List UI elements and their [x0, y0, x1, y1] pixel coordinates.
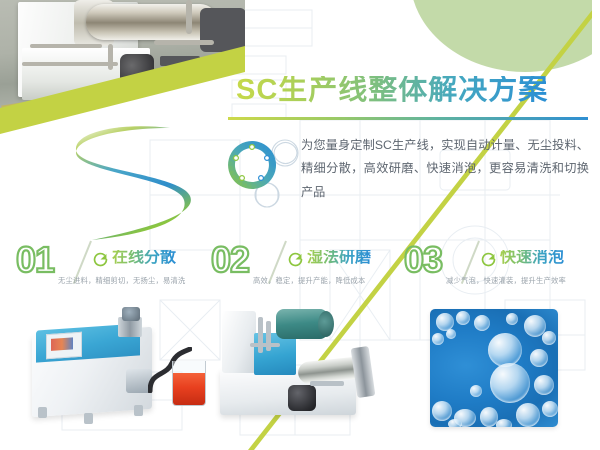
s-curve-ribbon [30, 120, 240, 245]
intro-paragraph: 为您量身定制SC生产线，实现自动计量、无尘投料、精细分散，高效研磨、快速消泡，更… [301, 134, 589, 204]
feature-subtitle: 高效，稳定，提升产能，降低成本 [253, 276, 365, 286]
refresh-circle-icon [287, 251, 304, 268]
feature-title: 湿法研磨 [307, 250, 371, 266]
right-edge-margin [592, 0, 600, 450]
feature-item-02: 02 湿法研磨 高效，稳定，提升产能，降低成本 [207, 243, 402, 299]
product-photo-foam [412, 303, 600, 438]
feature-item-01: 01 在线分散 无尘进料，精细剪切，无扬尘，易清洗 [12, 243, 207, 299]
refresh-circle-icon [92, 251, 109, 268]
feature-number: 02 [211, 242, 249, 278]
product-photo-bead-mill [214, 303, 404, 438]
feature-subtitle: 无尘进料，精细剪切，无扬尘，易清洗 [58, 276, 185, 286]
poster-canvas: SC生产线整体解决方案 为您量身定制SC生产线，实现自动计量、无尘投料、精细分散… [0, 0, 600, 450]
refresh-circle-icon [480, 251, 497, 268]
feature-title: 在线分散 [112, 250, 176, 266]
feature-number: 01 [16, 242, 54, 278]
product-photo-disperser [22, 303, 212, 438]
gear-cluster-graphic [218, 132, 310, 210]
feature-row: 01 在线分散 无尘进料，精细剪切，无扬尘，易清洗 02 湿法研磨 高效，稳定，… [0, 243, 600, 299]
feature-subtitle: 减少气泡，快速灌装，提升生产效率 [446, 276, 566, 286]
feature-item-03: 03 快速消泡 减少气泡，快速灌装，提升生产效率 [400, 243, 595, 299]
product-photo-row [0, 303, 600, 443]
feature-number: 03 [404, 242, 442, 278]
title-underline [228, 117, 588, 120]
page-title: SC生产线整体解决方案 [236, 76, 548, 105]
feature-title: 快速消泡 [500, 250, 564, 266]
